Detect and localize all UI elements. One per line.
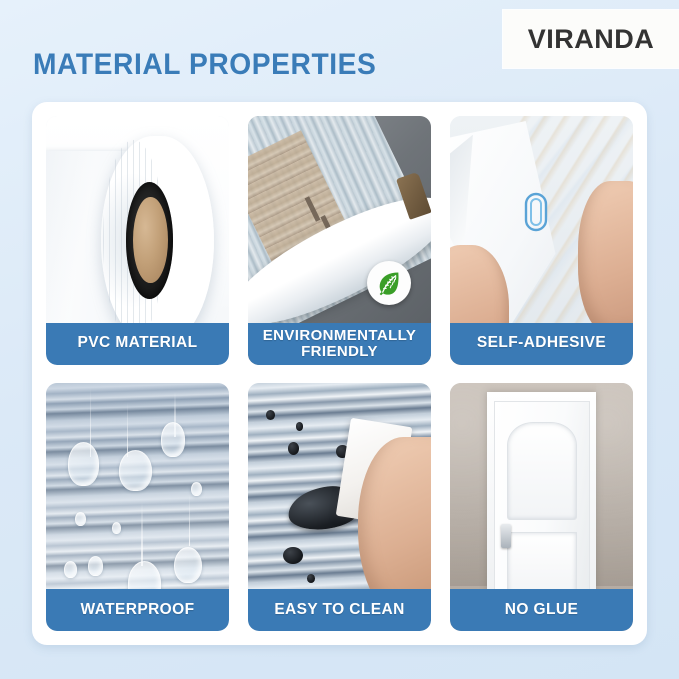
infographic-page: VIRANDA MATERIAL PROPERTIES PVC MATERIAL: [0, 0, 679, 679]
leaf-badge: [367, 261, 411, 305]
door-handle: [501, 524, 511, 548]
feature-tile-environmentally-friendly[interactable]: ENVIRONMENTALLY FRIENDLY: [248, 116, 431, 365]
feature-card: PVC MATERIAL: [32, 102, 647, 645]
feature-tile-waterproof[interactable]: WATERPROOF: [46, 383, 229, 632]
feature-label-easy-to-clean: EASY TO CLEAN: [248, 589, 431, 631]
feature-label-pvc-material: PVC MATERIAL: [46, 323, 229, 365]
paperclip-icon: [523, 191, 549, 233]
feature-tile-pvc-material[interactable]: PVC MATERIAL: [46, 116, 229, 365]
leaf-icon: [375, 269, 403, 297]
feature-tile-self-adhesive[interactable]: SELF-ADHESIVE: [450, 116, 633, 365]
feature-label-no-glue: NO GLUE: [450, 589, 633, 631]
feature-label-environmentally-friendly: ENVIRONMENTALLY FRIENDLY: [248, 323, 431, 365]
feature-tile-no-glue[interactable]: NO GLUE: [450, 383, 633, 632]
feature-grid: PVC MATERIAL: [46, 116, 633, 631]
brand-name: VIRANDA: [528, 24, 655, 55]
feature-tile-easy-to-clean[interactable]: EASY TO CLEAN: [248, 383, 431, 632]
page-title: MATERIAL PROPERTIES: [33, 48, 376, 82]
paperclip-badge: [523, 191, 549, 233]
feature-label-self-adhesive: SELF-ADHESIVE: [450, 323, 633, 365]
feature-label-waterproof: WATERPROOF: [46, 589, 229, 631]
brand-logo-badge: VIRANDA: [503, 10, 679, 68]
